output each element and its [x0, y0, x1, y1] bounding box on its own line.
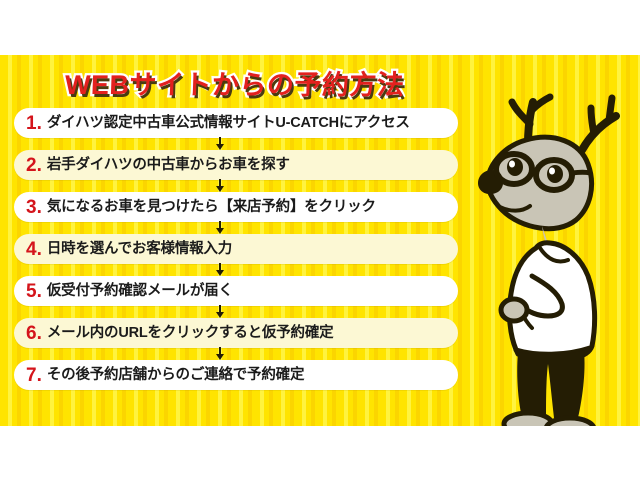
down-arrow-icon [214, 305, 226, 318]
step-text-5: 仮受付予約確認メールが届く [47, 284, 233, 299]
down-arrow-icon [214, 137, 226, 150]
step-number-3: 3. [26, 198, 42, 217]
step-pill-1: 1. ダイハツ認定中古車公式情報サイトU-CATCHにアクセス [14, 108, 458, 138]
step-pill-3: 3. 気になるお車を見つけたら【来店予約】をクリック [14, 192, 458, 222]
step-number-5: 5. [26, 282, 42, 301]
deer-mascot [470, 88, 638, 426]
list-item: 3. 気になるお車を見つけたら【来店予約】をクリック [14, 192, 460, 234]
step-text-4: 日時を選んでお客様情報入力 [47, 242, 232, 257]
list-item: 4. 日時を選んでお客様情報入力 [14, 234, 460, 276]
step-text-3: 気になるお車を見つけたら【来店予約】をクリック [47, 200, 376, 215]
step-pill-5: 5. 仮受付予約確認メールが届く [14, 276, 458, 306]
list-item: 7. その後予約店舗からのご連絡で予約確定 [14, 360, 460, 402]
step-text-2: 岩手ダイハツの中古車からお車を探す [47, 158, 290, 173]
steps-list: 1. ダイハツ認定中古車公式情報サイトU-CATCHにアクセス 2. 岩手ダイハ… [14, 108, 460, 402]
list-item: 5. 仮受付予約確認メールが届く [14, 276, 460, 318]
down-arrow-icon [214, 263, 226, 276]
promo-banner-image: WEBサイトからの予約方法 1. ダイハツ認定中古車公式情報サイトU-CATCH… [0, 0, 640, 480]
step-number-7: 7. [26, 366, 42, 385]
step-number-2: 2. [26, 156, 42, 175]
down-arrow-icon [214, 347, 226, 360]
step-number-6: 6. [26, 324, 42, 343]
step-number-4: 4. [26, 240, 42, 259]
list-item: 2. 岩手ダイハツの中古車からお車を探す [14, 150, 460, 192]
down-arrow-icon [214, 179, 226, 192]
step-number-1: 1. [26, 114, 42, 133]
step-text-7: その後予約店舗からのご連絡で予約確定 [47, 368, 304, 383]
list-item: 6. メール内のURLをクリックすると仮予約確定 [14, 318, 460, 360]
step-pill-2: 2. 岩手ダイハツの中古車からお車を探す [14, 150, 458, 180]
step-text-6: メール内のURLをクリックすると仮予約確定 [47, 326, 334, 341]
list-item: 1. ダイハツ認定中古車公式情報サイトU-CATCHにアクセス [14, 108, 460, 150]
down-arrow-icon [214, 221, 226, 234]
step-pill-6: 6. メール内のURLをクリックすると仮予約確定 [14, 318, 458, 348]
step-pill-7: 7. その後予約店舗からのご連絡で予約確定 [14, 360, 458, 390]
step-text-1: ダイハツ認定中古車公式情報サイトU-CATCHにアクセス [47, 116, 410, 131]
step-pill-4: 4. 日時を選んでお客様情報入力 [14, 234, 458, 264]
